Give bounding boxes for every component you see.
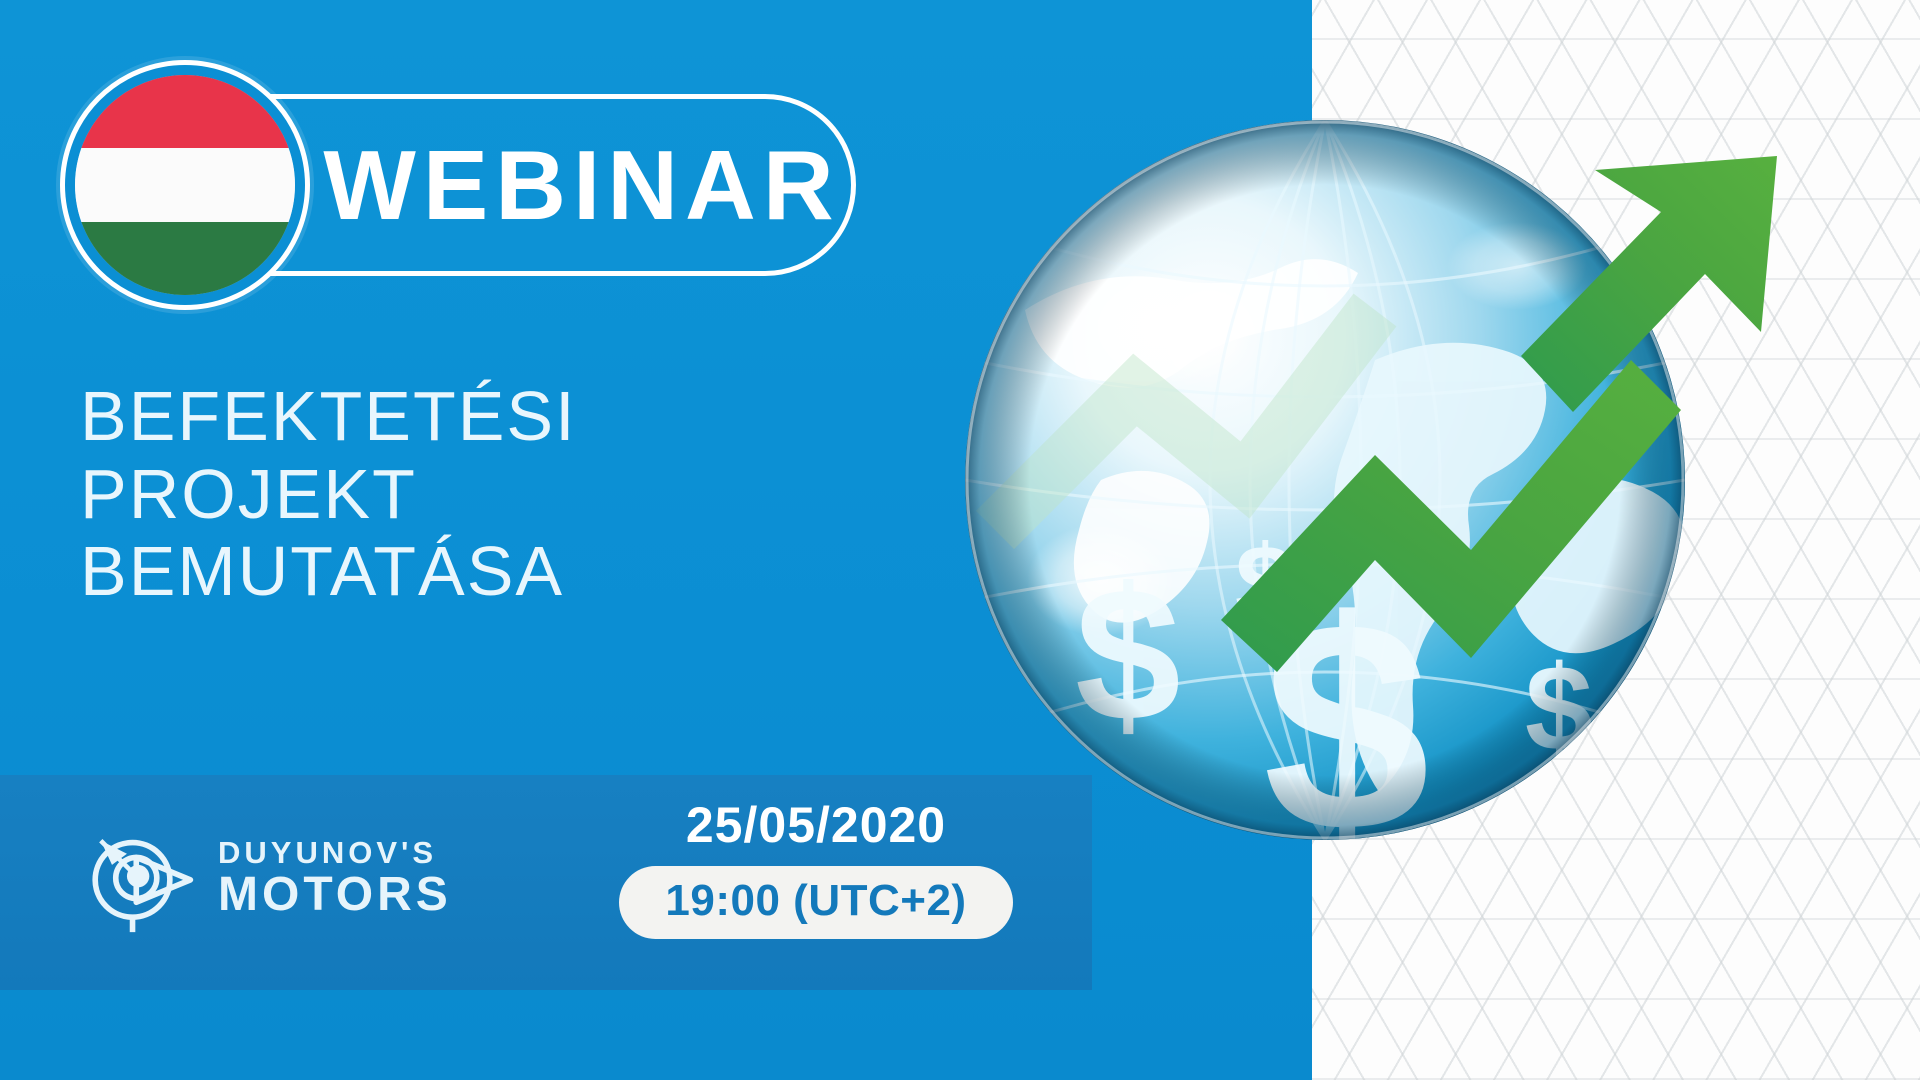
hungary-flag-icon — [60, 60, 310, 310]
flag-stripe-red — [75, 75, 295, 148]
webinar-header: WEBINAR — [60, 60, 1060, 310]
headline-line-1: BEFEKTETÉSI — [80, 378, 577, 456]
headline: BEFEKTETÉSI PROJEKT BEMUTATÁSA — [80, 378, 577, 611]
flag-stripe-green — [75, 222, 295, 295]
event-datetime: 25/05/2020 19:00 (UTC+2) — [596, 800, 1036, 939]
event-time-badge: 19:00 (UTC+2) — [619, 866, 1012, 939]
webinar-banner: $ $ $ $ WEBINAR — [0, 0, 1920, 1080]
event-date: 25/05/2020 — [596, 800, 1036, 850]
brand-name-bottom: MOTORS — [218, 871, 452, 919]
headline-line-2: PROJEKT — [80, 456, 577, 534]
headline-line-3: BEMUTATÁSA — [80, 533, 577, 611]
brand-logo: DUYUNOV'S MOTORS — [84, 818, 452, 938]
flag-stripe-white — [75, 148, 295, 221]
brand-name-top: DUYUNOV'S — [218, 837, 452, 868]
webinar-label: WEBINAR — [323, 136, 840, 234]
duyunovs-motors-logo-icon — [84, 822, 196, 934]
